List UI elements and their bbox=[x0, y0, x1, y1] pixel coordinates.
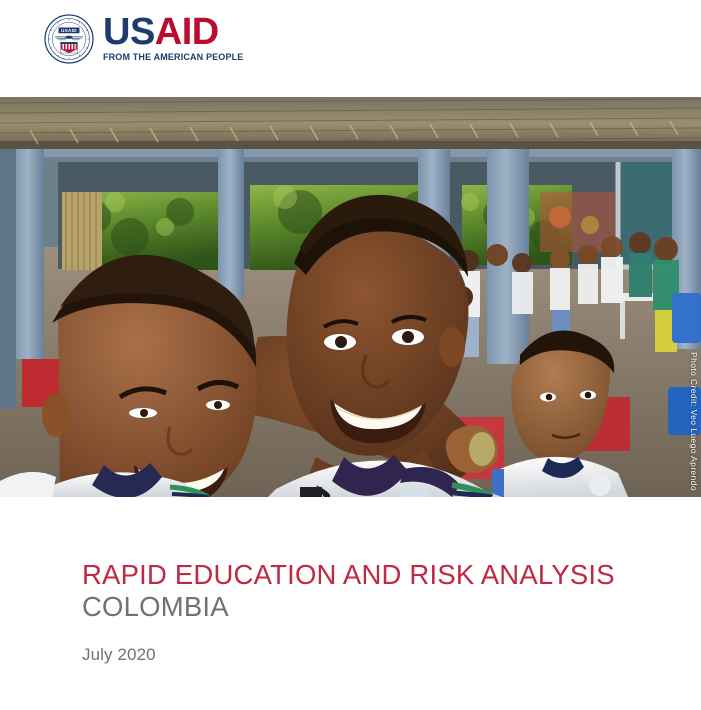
svg-text:USAID: USAID bbox=[61, 28, 77, 33]
usaid-seal-icon: USAID bbox=[44, 14, 94, 64]
document-title: RAPID EDUCATION AND RISK ANALYSIS bbox=[82, 559, 701, 591]
usaid-logo: USAID bbox=[44, 14, 248, 64]
document-date: July 2020 bbox=[82, 645, 701, 665]
photo-credit: Photo Credit: Veo Luego Aprendo bbox=[689, 352, 699, 491]
cover-title-block: RAPID EDUCATION AND RISK ANALYSIS COLOMB… bbox=[0, 497, 701, 665]
wordmark-us: US bbox=[103, 11, 155, 53]
wordmark-aid: AID bbox=[155, 11, 219, 53]
page-header: USAID bbox=[0, 0, 701, 97]
cover-photo-image bbox=[0, 97, 701, 497]
usaid-wordmark: USAID FROM THE AMERICAN PEOPLE bbox=[103, 14, 248, 62]
cover-photo: Photo Credit: Veo Luego Aprendo bbox=[0, 97, 701, 497]
usaid-tagline: FROM THE AMERICAN PEOPLE bbox=[103, 52, 243, 62]
document-subtitle: COLOMBIA bbox=[82, 591, 701, 623]
